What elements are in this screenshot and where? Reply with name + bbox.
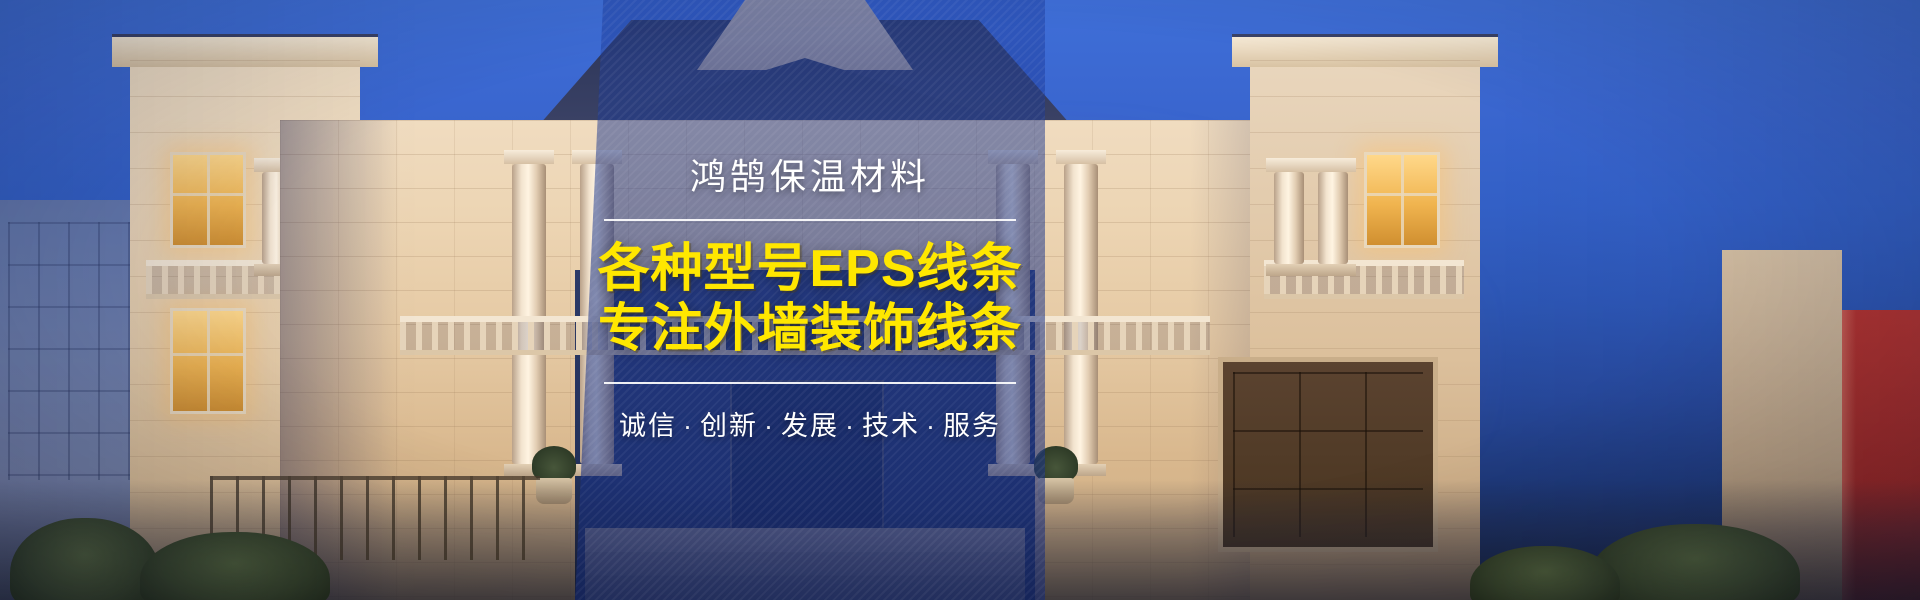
window-mullion [1367, 193, 1437, 196]
window-mullion [207, 311, 210, 411]
portico-column-4 [1064, 164, 1098, 464]
window-lit-left-upper [170, 152, 246, 248]
company-name: 鸿鹄保温材料 [690, 157, 930, 197]
tagline-separator: · [920, 411, 943, 441]
headline-line-1: 各种型号EPS线条 [597, 239, 1022, 299]
tagline-separator: · [839, 411, 862, 441]
window-lit-left-lower [170, 308, 246, 414]
divider-top [604, 219, 1016, 221]
tagline-item: 发展 [781, 411, 839, 441]
window-mullion [207, 155, 210, 245]
banner-text-block: 鸿鹄保温材料 各种型号EPS线条 专注外墙装饰线条 诚信·创新·发展·技术·服务 [575, 0, 1045, 600]
promotional-banner: 鸿鹄保温材料 各种型号EPS线条 专注外墙装饰线条 诚信·创新·发展·技术·服务 [0, 0, 1920, 600]
window-mullion [173, 353, 243, 356]
tagline-separator: · [758, 411, 781, 441]
tagline: 诚信·创新·发展·技术·服务 [619, 404, 1001, 443]
window-lit-right-upper [1364, 152, 1440, 248]
tagline-item: 技术 [862, 411, 920, 441]
window-mullion [1401, 155, 1404, 245]
tagline-separator: · [677, 411, 700, 441]
tagline-item: 诚信 [619, 411, 677, 441]
divider-bottom [604, 382, 1016, 384]
portico-column-1 [512, 164, 546, 464]
right-column-b [1274, 172, 1304, 264]
tagline-item: 服务 [943, 411, 1001, 441]
window-mullion [173, 193, 243, 196]
headline-line-2: 专注外墙装饰线条 [598, 299, 1022, 359]
right-column-a [1318, 172, 1348, 264]
tagline-item: 创新 [700, 411, 758, 441]
